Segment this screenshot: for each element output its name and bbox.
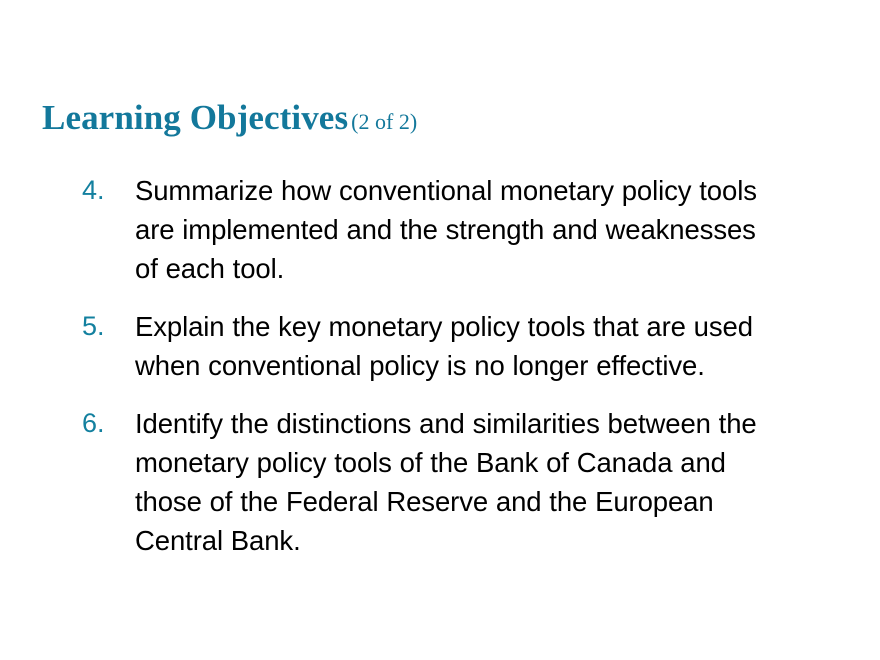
page-title-main: Learning Objectives (42, 98, 348, 137)
list-item: 6. Identify the distinctions and similar… (82, 404, 880, 560)
text-line: Identify the distinctions and similariti… (135, 404, 880, 443)
list-item-text: Identify the distinctions and similariti… (135, 404, 880, 560)
text-line: Central Bank. (135, 521, 880, 560)
text-line: those of the Federal Reserve and the Eur… (135, 482, 880, 521)
text-line: of each tool. (135, 249, 880, 288)
page-title-part-indicator: (2 of 2) (348, 109, 417, 134)
list-item-text: Summarize how conventional monetary poli… (135, 171, 880, 288)
list-item-number: 5. (82, 307, 126, 346)
list-item: 5. Explain the key monetary policy tools… (82, 307, 880, 385)
page-title: Learning Objectives(2 of 2) (42, 100, 417, 135)
list-item-text: Explain the key monetary policy tools th… (135, 307, 880, 385)
list-item-number: 6. (82, 404, 126, 443)
text-line: monetary policy tools of the Bank of Can… (135, 443, 880, 482)
list-item-number: 4. (82, 171, 126, 210)
slide-canvas: Learning Objectives(2 of 2) 4. Summarize… (0, 0, 880, 660)
text-line: are implemented and the strength and wea… (135, 210, 880, 249)
list-item: 4. Summarize how conventional monetary p… (82, 171, 880, 288)
objectives-list: 4. Summarize how conventional monetary p… (42, 171, 880, 560)
text-line: when conventional policy is no longer ef… (135, 346, 880, 385)
text-line: Summarize how conventional monetary poli… (135, 171, 880, 210)
text-line: Explain the key monetary policy tools th… (135, 307, 880, 346)
